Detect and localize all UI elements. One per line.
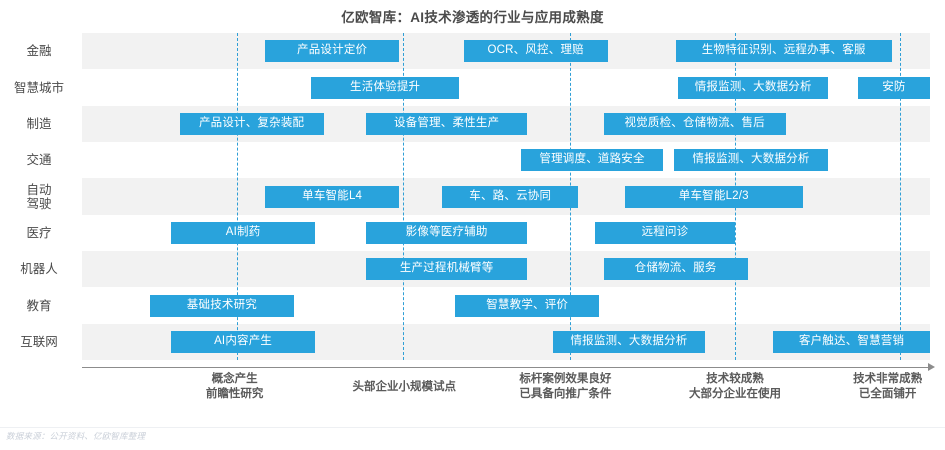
- y-axis-label-line: 机器人: [0, 262, 78, 276]
- y-axis-label-1: 金融: [0, 44, 78, 58]
- x-axis-stage-label-line: 技术非常成熟: [808, 372, 945, 387]
- y-axis-label-line: 医疗: [0, 226, 78, 240]
- y-axis-labels: 金融智慧城市制造交通自动驾驶医疗机器人教育互联网: [0, 33, 78, 360]
- x-axis-stage-label-line: 大部分企业在使用: [655, 387, 815, 402]
- x-axis-stage-label-5: 技术非常成熟已全面铺开: [808, 372, 945, 402]
- chart-bar[interactable]: 基础技术研究: [150, 295, 294, 317]
- x-axis-stage-label-line: 技术较成熟: [655, 372, 815, 387]
- y-axis-label-6: 医疗: [0, 226, 78, 240]
- chart-bar[interactable]: 产品设计、复杂装配: [180, 113, 324, 135]
- x-axis-stage-label-line: 标杆案例效果良好: [485, 372, 645, 387]
- y-axis-label-line: 教育: [0, 299, 78, 313]
- plot-area: 产品设计定价OCR、风控、理赔生物特征识别、远程办事、客服生活体验提升情报监测、…: [82, 33, 930, 360]
- chart-bar[interactable]: 产品设计定价: [265, 40, 399, 62]
- y-axis-label-line: 互联网: [0, 335, 78, 349]
- chart-bar[interactable]: 仓储物流、服务: [604, 258, 748, 280]
- y-axis-label-2: 智慧城市: [0, 81, 78, 95]
- x-axis-stage-label-line: 头部企业小规模试点: [324, 380, 484, 395]
- x-axis-stage-label-line: 前瞻性研究: [155, 387, 315, 402]
- chart-container: 亿欧智库：AI技术渗透的行业与应用成熟度 金融智慧城市制造交通自动驾驶医疗机器人…: [0, 0, 945, 450]
- x-axis-stage-label-1: 概念产生前瞻性研究: [155, 372, 315, 402]
- y-axis-label-line: 金融: [0, 44, 78, 58]
- y-axis-label-5: 自动驾驶: [0, 183, 78, 211]
- x-axis-stage-label-line: 概念产生: [155, 372, 315, 387]
- chart-bar[interactable]: 情报监测、大数据分析: [674, 149, 828, 171]
- y-axis-label-line: 智慧城市: [0, 81, 78, 95]
- x-axis-stage-label-4: 技术较成熟大部分企业在使用: [655, 372, 815, 402]
- chart-bar[interactable]: 客户触达、智慧营销: [773, 331, 930, 353]
- y-axis-label-7: 机器人: [0, 262, 78, 276]
- y-axis-label-line: 驾驶: [0, 197, 78, 211]
- y-axis-label-line: 交通: [0, 153, 78, 167]
- chart-bar[interactable]: 情报监测、大数据分析: [678, 77, 828, 99]
- y-axis-label-3: 制造: [0, 117, 78, 131]
- chart-bar[interactable]: 情报监测、大数据分析: [553, 331, 706, 353]
- chart-bar[interactable]: 视觉质检、仓储物流、售后: [604, 113, 786, 135]
- x-axis-stage-label-line: 已全面铺开: [808, 387, 945, 402]
- x-axis-line: [82, 367, 930, 368]
- chart-bar[interactable]: AI内容产生: [171, 331, 315, 353]
- chart-bar[interactable]: 管理调度、道路安全: [521, 149, 663, 171]
- chart-title: 亿欧智库：AI技术渗透的行业与应用成熟度: [0, 6, 945, 26]
- x-axis-stage-label-2: 头部企业小规模试点: [324, 380, 484, 395]
- chart-bar[interactable]: 生活体验提升: [311, 77, 459, 99]
- chart-bar[interactable]: 车、路、云协同: [442, 186, 578, 208]
- chart-bar[interactable]: 影像等医疗辅助: [366, 222, 527, 244]
- x-axis-arrow-icon: [928, 363, 935, 371]
- chart-bar[interactable]: AI制药: [171, 222, 315, 244]
- source-note: 数据来源：公开资料、亿欧智库整理: [6, 430, 145, 442]
- chart-bar[interactable]: 远程问诊: [595, 222, 735, 244]
- chart-bar[interactable]: 生物特征识别、远程办事、客服: [676, 40, 892, 62]
- chart-bar[interactable]: 单车智能L2/3: [625, 186, 803, 208]
- y-axis-label-8: 教育: [0, 299, 78, 313]
- y-axis-label-9: 互联网: [0, 335, 78, 349]
- y-axis-label-line: 制造: [0, 117, 78, 131]
- chart-bar[interactable]: 设备管理、柔性生产: [366, 113, 527, 135]
- chart-bar[interactable]: 安防: [858, 77, 930, 99]
- footer-divider: [0, 427, 945, 428]
- chart-bar[interactable]: 生产过程机械臂等: [366, 258, 527, 280]
- chart-bar[interactable]: 单车智能L4: [265, 186, 399, 208]
- y-axis-label-line: 自动: [0, 183, 78, 197]
- x-axis-stage-label-3: 标杆案例效果良好已具备向推广条件: [485, 372, 645, 402]
- y-axis-label-4: 交通: [0, 153, 78, 167]
- chart-bar[interactable]: OCR、风控、理赔: [464, 40, 608, 62]
- x-axis-stage-label-line: 已具备向推广条件: [485, 387, 645, 402]
- chart-bar[interactable]: 智慧教学、评价: [455, 295, 599, 317]
- x-axis-stage-labels: 概念产生前瞻性研究头部企业小规模试点标杆案例效果良好已具备向推广条件技术较成熟大…: [82, 372, 930, 412]
